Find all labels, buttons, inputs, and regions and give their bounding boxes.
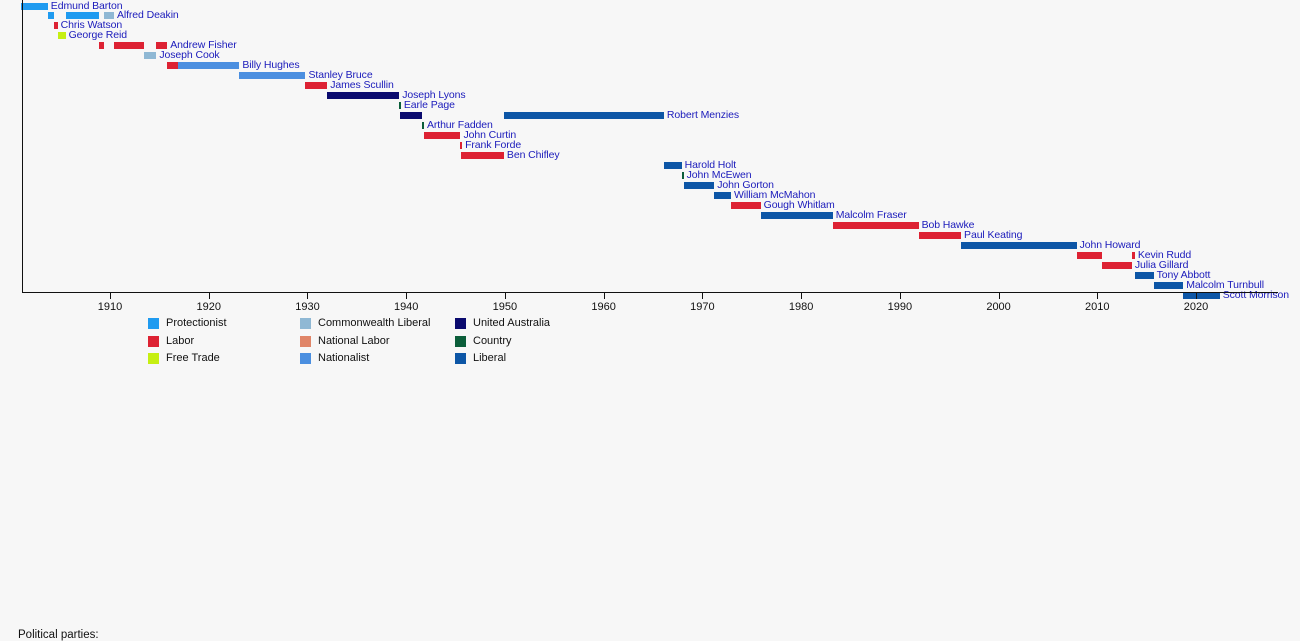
x-axis-tick [505, 293, 506, 299]
legend-label: Free Trade [166, 352, 220, 365]
x-axis-tick [604, 293, 605, 299]
x-axis-tick [110, 293, 111, 299]
legend-label: Nationalist [318, 352, 369, 365]
x-axis-tick [801, 293, 802, 299]
x-axis-tick-label: 1920 [196, 301, 220, 313]
x-axis-tick-label: 1950 [493, 301, 517, 313]
legend: Political parties: ProtectionistLaborFre… [0, 313, 1300, 373]
legend-swatch-icon [455, 336, 466, 347]
x-axis-tick-label: 1960 [591, 301, 615, 313]
legend-swatch-icon [148, 336, 159, 347]
x-axis-tick [999, 293, 1000, 299]
x-axis-tick-label: 1930 [295, 301, 319, 313]
x-axis-tick-label: 1990 [888, 301, 912, 313]
plot-frame [22, 0, 1278, 293]
legend-label: Country [473, 335, 512, 348]
legend-swatch-icon [455, 318, 466, 329]
x-axis-tick-label: 1940 [394, 301, 418, 313]
legend-label: National Labor [318, 335, 390, 348]
legend-label: Protectionist [166, 317, 227, 330]
pm-timeline-chart: Edmund BartonAlfred DeakinChris WatsonGe… [0, 0, 1300, 413]
legend-swatch-icon [148, 318, 159, 329]
x-axis-tick [406, 293, 407, 299]
x-axis-tick-label: 2000 [986, 301, 1010, 313]
legend-label: Liberal [473, 352, 506, 365]
x-axis-tick [1097, 293, 1098, 299]
x-axis-tick [209, 293, 210, 299]
legend-swatch-icon [148, 353, 159, 364]
x-axis-tick-label: 1910 [98, 301, 122, 313]
legend-label: United Australia [473, 317, 550, 330]
x-axis-tick [702, 293, 703, 299]
legend-swatch-icon [455, 353, 466, 364]
x-axis-tick-label: 1980 [789, 301, 813, 313]
x-axis-tick-label: 2010 [1085, 301, 1109, 313]
legend-swatch-icon [300, 353, 311, 364]
legend-title: Political parties: [18, 629, 99, 641]
x-axis-tick-label: 2020 [1184, 301, 1208, 313]
x-axis-tick [307, 293, 308, 299]
legend-label: Labor [166, 335, 194, 348]
x-axis-tick [900, 293, 901, 299]
legend-label: Commonwealth Liberal [318, 317, 431, 330]
x-axis-tick [1196, 293, 1197, 299]
legend-swatch-icon [300, 318, 311, 329]
x-axis-tick-label: 1970 [690, 301, 714, 313]
legend-swatch-icon [300, 336, 311, 347]
